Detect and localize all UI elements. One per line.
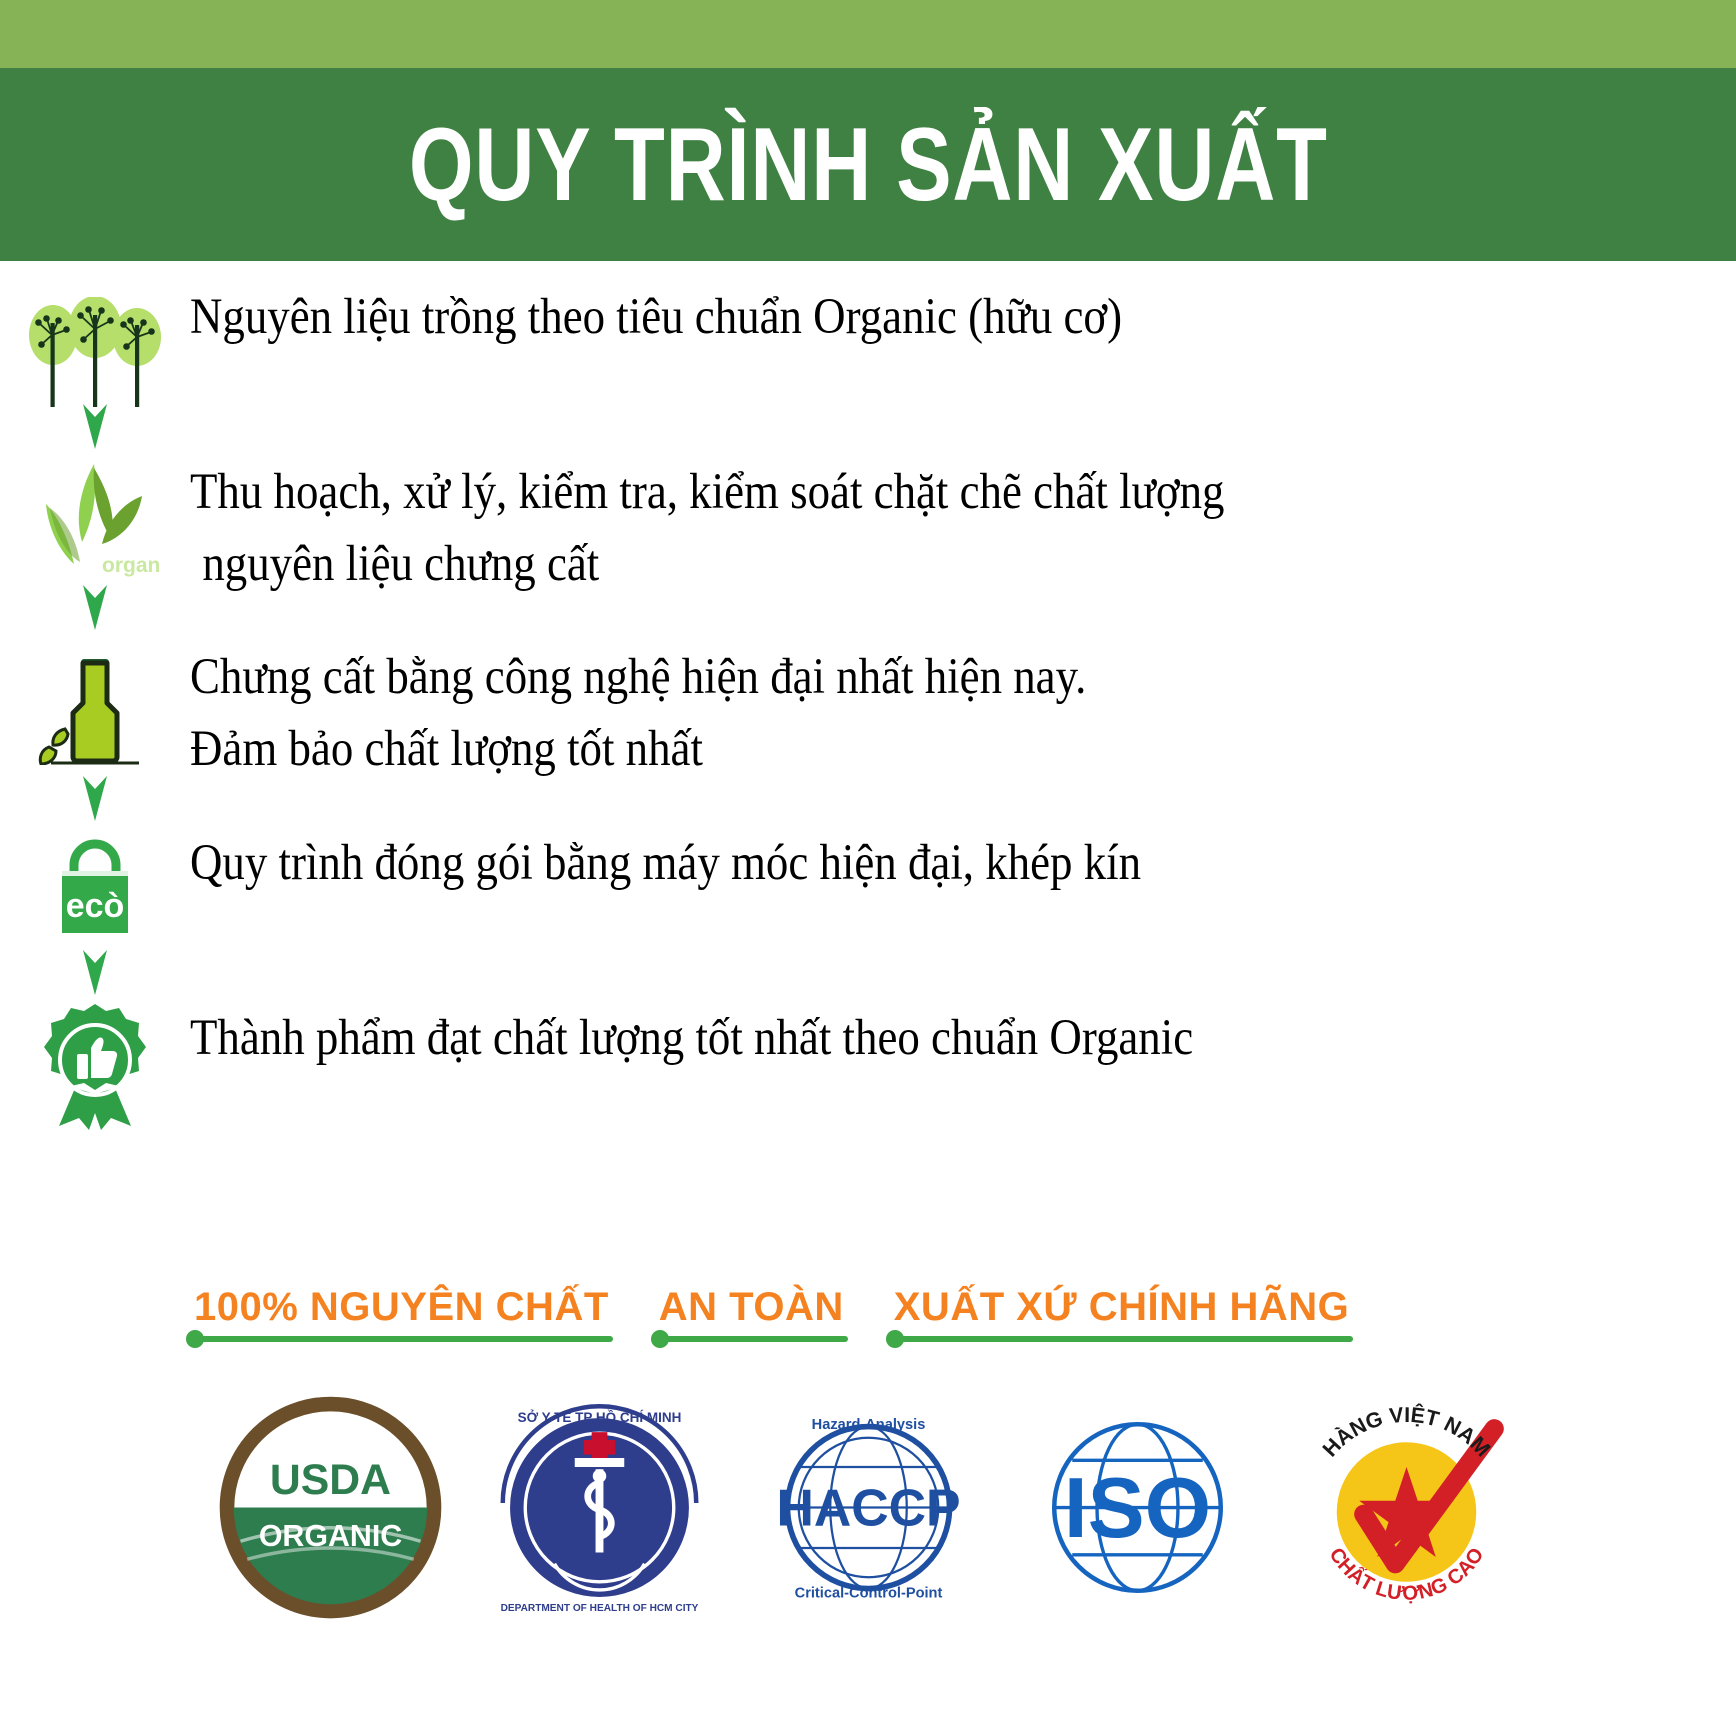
so-y-te-bottom-text: DEPARTMENT OF HEALTH OF HCM CITY xyxy=(500,1603,698,1614)
step-arrow-2 xyxy=(82,584,108,630)
hang-viet-nam-clc-logo: HÀNG VIỆT NAM CHẤT LƯỢNG CAO xyxy=(1294,1395,1519,1620)
step-4-line-1: Quy trình đóng gói bằng máy móc hiện đại… xyxy=(190,827,1498,899)
step-2-line-1: Thu hoạch, xử lý, kiểm tra, kiểm soát ch… xyxy=(190,456,1498,528)
step-arrow-3 xyxy=(82,775,108,821)
three-trees-icon xyxy=(25,297,165,412)
tagline-1: 100% NGUYÊN CHẤT xyxy=(190,1285,613,1342)
tagline-3: XUẤT XỨ CHÍNH HÃNG xyxy=(890,1285,1354,1342)
organic-icon-label: organic xyxy=(102,554,160,577)
haccp-main-text: HACCP xyxy=(776,1479,960,1537)
tagline-3-dot xyxy=(886,1330,904,1348)
eco-bag-label: ecò xyxy=(66,887,125,925)
tagline-2-rule xyxy=(655,1336,848,1342)
step-3-icon-col xyxy=(0,635,190,770)
process-step-4: ecò Quy trình đóng gói bằng máy móc hiện… xyxy=(0,821,1736,996)
tagline-1-rule xyxy=(190,1336,613,1342)
haccp-bottom-text: Critical-Control-Point xyxy=(794,1586,942,1602)
tagline-2-label: AN TOÀN xyxy=(655,1285,848,1336)
process-step-3: Chưng cất bằng công nghệ hiện đại nhất h… xyxy=(0,635,1736,821)
step-1-line-1: Nguyên liệu trồng theo tiêu chuẩn Organi… xyxy=(190,281,1498,353)
tagline-2-dot xyxy=(651,1330,669,1348)
step-5-line-1: Thành phẩm đạt chất lượng tốt nhất theo … xyxy=(190,1002,1498,1074)
step-4-icon-col: ecò xyxy=(0,821,190,946)
process-step-5: Thành phẩm đạt chất lượng tốt nhất theo … xyxy=(0,996,1736,1166)
process-steps-list: Nguyên liệu trồng theo tiêu chuẩn Organi… xyxy=(0,275,1736,1166)
usda-logo-line1: USDA xyxy=(269,1456,390,1504)
step-2-icon-col: organic xyxy=(0,450,190,586)
tagline-3-rule xyxy=(890,1336,1354,1342)
iso-logo: ISO xyxy=(1025,1395,1250,1620)
process-step-1: Nguyên liệu trồng theo tiêu chuẩn Organi… xyxy=(0,275,1736,450)
step-1-icon-col xyxy=(0,275,190,412)
header-band: QUY TRÌNH SẢN XUẤT xyxy=(0,68,1736,261)
step-arrow-4 xyxy=(82,949,108,995)
step-arrow-1 xyxy=(82,403,108,449)
step-3-line-2: Đảm bảo chất lượng tốt nhất xyxy=(190,713,1498,785)
top-accent-strip xyxy=(0,0,1736,68)
bottle-icon xyxy=(35,645,155,770)
certification-logo-row: USDA ORGANIC SỞ Y TẾ TP HỒ CHÍ MINH DEPA… xyxy=(0,1395,1736,1620)
organic-leaves-icon: organic xyxy=(30,456,160,586)
step-3-text: Chưng cất bằng công nghệ hiện đại nhất h… xyxy=(190,635,1736,786)
haccp-logo: HACCP Hazard-Analysis Critical-Control-P… xyxy=(756,1395,981,1620)
eco-bag-icon: ecò xyxy=(40,831,150,946)
process-step-2: organic Thu hoạch, xử lý, kiểm tra, kiểm… xyxy=(0,450,1736,635)
step-5-icon-col xyxy=(0,996,190,1135)
tagline-1-dot xyxy=(186,1330,204,1348)
step-5-text: Thành phẩm đạt chất lượng tốt nhất theo … xyxy=(190,996,1736,1074)
quality-badge-icon xyxy=(35,1000,155,1135)
haccp-top-text: Hazard-Analysis xyxy=(811,1417,925,1433)
so-y-te-top-text: SỞ Y TẾ TP HỒ CHÍ MINH xyxy=(517,1410,681,1425)
step-2-text: Thu hoạch, xử lý, kiểm tra, kiểm soát ch… xyxy=(190,450,1736,601)
step-2-line-2: nguyên liệu chưng cất xyxy=(190,528,1498,600)
tagline-1-label: 100% NGUYÊN CHẤT xyxy=(190,1285,613,1336)
tagline-2: AN TOÀN xyxy=(655,1285,848,1342)
usda-logo-line2: ORGANIC xyxy=(258,1520,401,1553)
step-4-text: Quy trình đóng gói bằng máy móc hiện đại… xyxy=(190,821,1736,899)
usda-organic-logo: USDA ORGANIC xyxy=(218,1395,443,1620)
tagline-row: 100% NGUYÊN CHẤT AN TOÀN XUẤT XỨ CHÍNH H… xyxy=(0,1285,1736,1342)
step-3-line-1: Chưng cất bằng công nghệ hiện đại nhất h… xyxy=(190,641,1498,713)
step-1-text: Nguyên liệu trồng theo tiêu chuẩn Organi… xyxy=(190,275,1736,353)
so-y-te-hcm-logo: SỞ Y TẾ TP HỒ CHÍ MINH DEPARTMENT OF HEA… xyxy=(487,1395,712,1620)
page-title: QUY TRÌNH SẢN XUẤT xyxy=(409,113,1328,217)
iso-main-text: ISO xyxy=(1063,1461,1210,1556)
tagline-3-label: XUẤT XỨ CHÍNH HÃNG xyxy=(890,1285,1354,1336)
